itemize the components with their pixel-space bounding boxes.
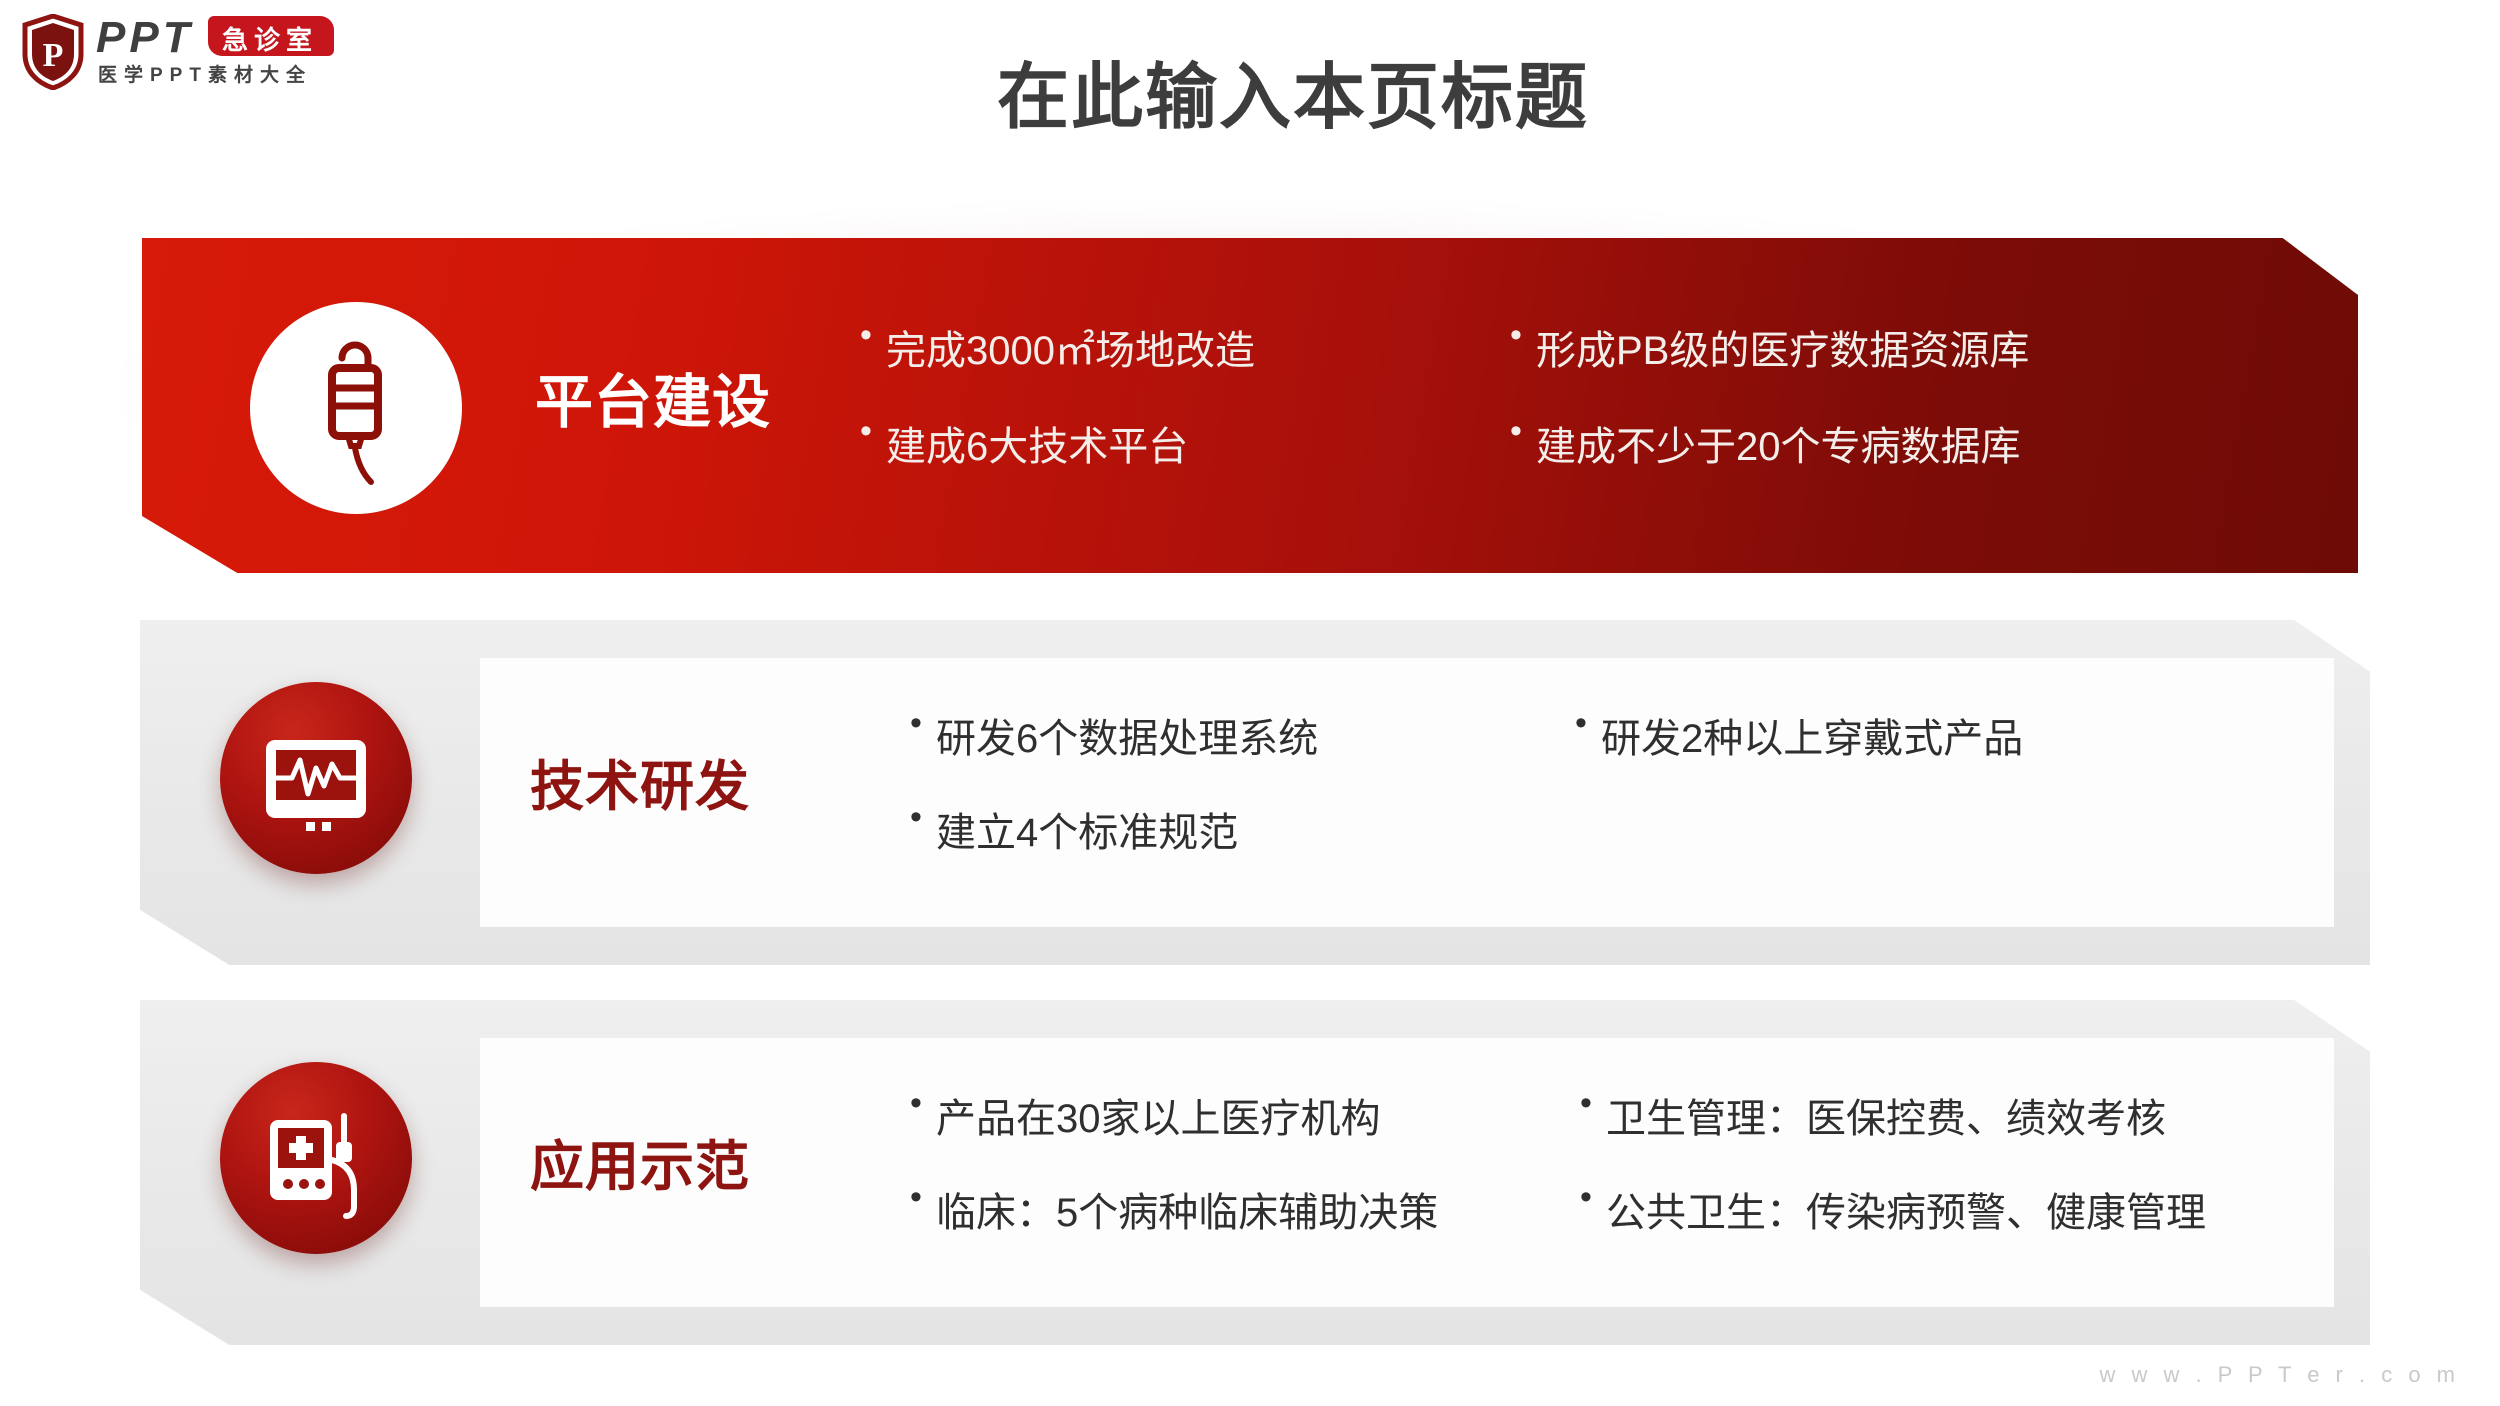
content-row-platform: 平台建设 • 完成3000㎡场地改造 • 建成6大技术平台 • 形成PB级的医疗… bbox=[100, 150, 2390, 590]
list-item: • 卫生管理：医保控费、绩效考核 bbox=[1580, 1086, 2206, 1144]
ecg-monitor-icon bbox=[220, 682, 412, 874]
list-item-label: 建立4个标准规范 bbox=[936, 800, 1238, 858]
page-title: 在此输入本页标题 bbox=[0, 38, 2500, 143]
category-title-research: 技术研发 bbox=[530, 742, 750, 821]
bullet-dot-icon: • bbox=[1510, 318, 1536, 354]
category-title-application: 应用示范 bbox=[530, 1122, 750, 1201]
bullet-dot-icon: • bbox=[860, 414, 886, 450]
list-item: • 建立4个标准规范 bbox=[910, 800, 1318, 858]
list-item-label: 产品在30家以上医疗机构 bbox=[936, 1086, 1381, 1144]
content-row-application: 应用示范 • 产品在30家以上医疗机构 • 临床：5个病种临床辅助决策 • 卫生… bbox=[140, 1000, 2370, 1345]
bullet-dot-icon: • bbox=[1510, 414, 1536, 450]
infusion-pump-icon bbox=[220, 1062, 412, 1254]
bullet-dot-icon: • bbox=[860, 318, 886, 354]
list-item: • 研发6个数据处理系统 bbox=[910, 706, 1318, 764]
bullet-dot-icon: • bbox=[910, 800, 936, 836]
ecg-monitor-icon-circle bbox=[220, 682, 412, 874]
bullet-dot-icon: • bbox=[910, 1086, 936, 1122]
list-item: • 完成3000㎡场地改造 bbox=[860, 318, 1255, 376]
list-item-label: 临床：5个病种临床辅助决策 bbox=[936, 1180, 1438, 1238]
list-item: • 建成6大技术平台 bbox=[860, 414, 1255, 472]
list-item: • 形成PB级的医疗数据资源库 bbox=[1510, 318, 2029, 376]
list-item: • 临床：5个病种临床辅助决策 bbox=[910, 1180, 1438, 1238]
bullet-column-right: • 卫生管理：医保控费、绩效考核 • 公共卫生：传染病预警、健康管理 bbox=[1580, 1086, 2206, 1274]
list-item-label: 形成PB级的医疗数据资源库 bbox=[1536, 318, 2029, 376]
bullet-column-left: • 完成3000㎡场地改造 • 建成6大技术平台 bbox=[860, 318, 1255, 510]
content-row-research: 技术研发 • 研发6个数据处理系统 • 建立4个标准规范 • 研发2种以上穿戴式… bbox=[140, 620, 2370, 965]
list-item-label: 完成3000㎡场地改造 bbox=[886, 318, 1255, 376]
iv-drip-icon bbox=[250, 302, 462, 514]
bullet-dot-icon: • bbox=[1580, 1086, 1606, 1122]
list-item-label: 建成不少于20个专病数据库 bbox=[1536, 414, 2021, 472]
bullet-column-left: • 研发6个数据处理系统 • 建立4个标准规范 bbox=[910, 706, 1318, 894]
list-item: • 产品在30家以上医疗机构 bbox=[910, 1086, 1438, 1144]
site-watermark: w w w . P P T e r . c o m bbox=[2099, 1362, 2460, 1388]
bullet-dot-icon: • bbox=[910, 706, 936, 742]
category-title-platform: 平台建设 bbox=[535, 355, 771, 439]
list-item: • 建成不少于20个专病数据库 bbox=[1510, 414, 2029, 472]
bullet-column-right: • 研发2种以上穿戴式产品 bbox=[1575, 706, 2023, 800]
list-item: • 研发2种以上穿戴式产品 bbox=[1575, 706, 2023, 764]
list-item-label: 研发2种以上穿戴式产品 bbox=[1601, 706, 2023, 764]
list-item: • 公共卫生：传染病预警、健康管理 bbox=[1580, 1180, 2206, 1238]
bullet-dot-icon: • bbox=[1575, 706, 1601, 742]
bullet-column-left: • 产品在30家以上医疗机构 • 临床：5个病种临床辅助决策 bbox=[910, 1086, 1438, 1274]
list-item-label: 研发6个数据处理系统 bbox=[936, 706, 1318, 764]
list-item-label: 建成6大技术平台 bbox=[886, 414, 1188, 472]
list-item-label: 卫生管理：医保控费、绩效考核 bbox=[1606, 1086, 2166, 1144]
bullet-dot-icon: • bbox=[1580, 1180, 1606, 1216]
bullet-column-right: • 形成PB级的医疗数据资源库 • 建成不少于20个专病数据库 bbox=[1510, 318, 2029, 510]
inner-card bbox=[480, 658, 2334, 927]
iv-drip-icon-circle bbox=[250, 302, 462, 514]
infusion-pump-icon-circle bbox=[220, 1062, 412, 1254]
bullet-dot-icon: • bbox=[910, 1180, 936, 1216]
list-item-label: 公共卫生：传染病预警、健康管理 bbox=[1606, 1180, 2206, 1238]
